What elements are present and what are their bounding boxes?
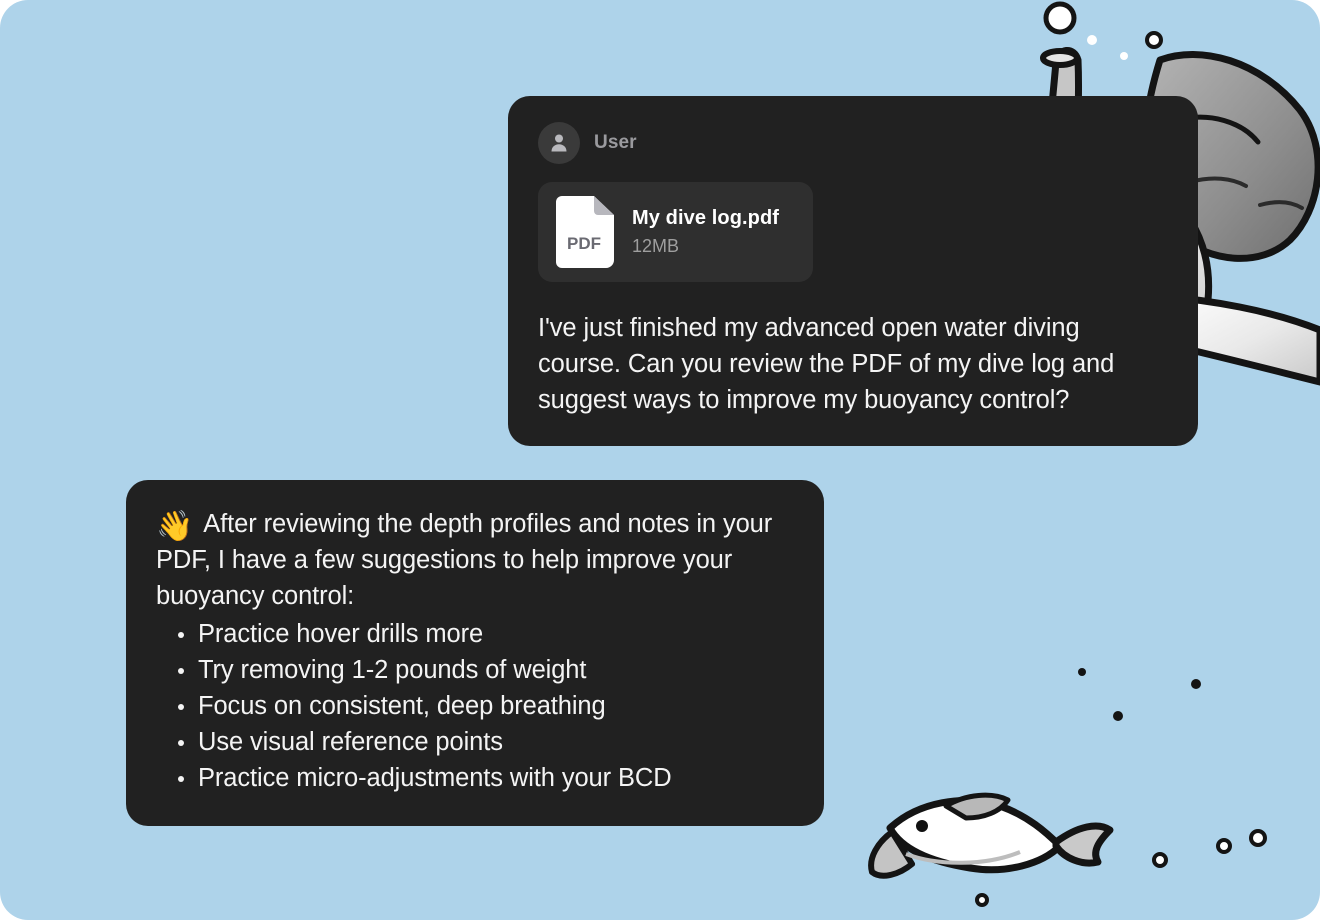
screenshot-canvas: User PDF My dive log.pdf 12MB I've just … (0, 0, 1320, 920)
user-message-text: I've just finished my advanced open wate… (538, 310, 1168, 418)
file-size: 12MB (632, 236, 779, 257)
assistant-intro-text: After reviewing the depth profiles and n… (156, 510, 772, 610)
user-role-label: User (594, 132, 637, 154)
list-item: Practice hover drills more (156, 616, 794, 652)
list-item: Practice micro-adjustments with your BCD (156, 760, 794, 796)
pdf-attachment-card[interactable]: PDF My dive log.pdf 12MB (538, 182, 813, 282)
file-name: My dive log.pdf (632, 207, 779, 230)
waving-hand-emoji: 👋 (156, 510, 193, 543)
file-meta: My dive log.pdf 12MB (632, 207, 779, 257)
list-item: Try removing 1-2 pounds of weight (156, 652, 794, 688)
pdf-file-icon: PDF (556, 196, 614, 268)
svg-text:PDF: PDF (567, 234, 601, 253)
assistant-intro-paragraph: 👋After reviewing the depth profiles and … (156, 506, 794, 614)
list-item: Use visual reference points (156, 724, 794, 760)
suggestion-list: Practice hover drills more Try removing … (156, 616, 794, 796)
fish (871, 795, 1110, 876)
list-item: Focus on consistent, deep breathing (156, 688, 794, 724)
user-message-bubble: User PDF My dive log.pdf 12MB I've just … (508, 96, 1198, 446)
user-header: User (538, 122, 1168, 164)
assistant-message-bubble: 👋After reviewing the depth profiles and … (126, 480, 824, 826)
person-avatar-icon (538, 122, 580, 164)
